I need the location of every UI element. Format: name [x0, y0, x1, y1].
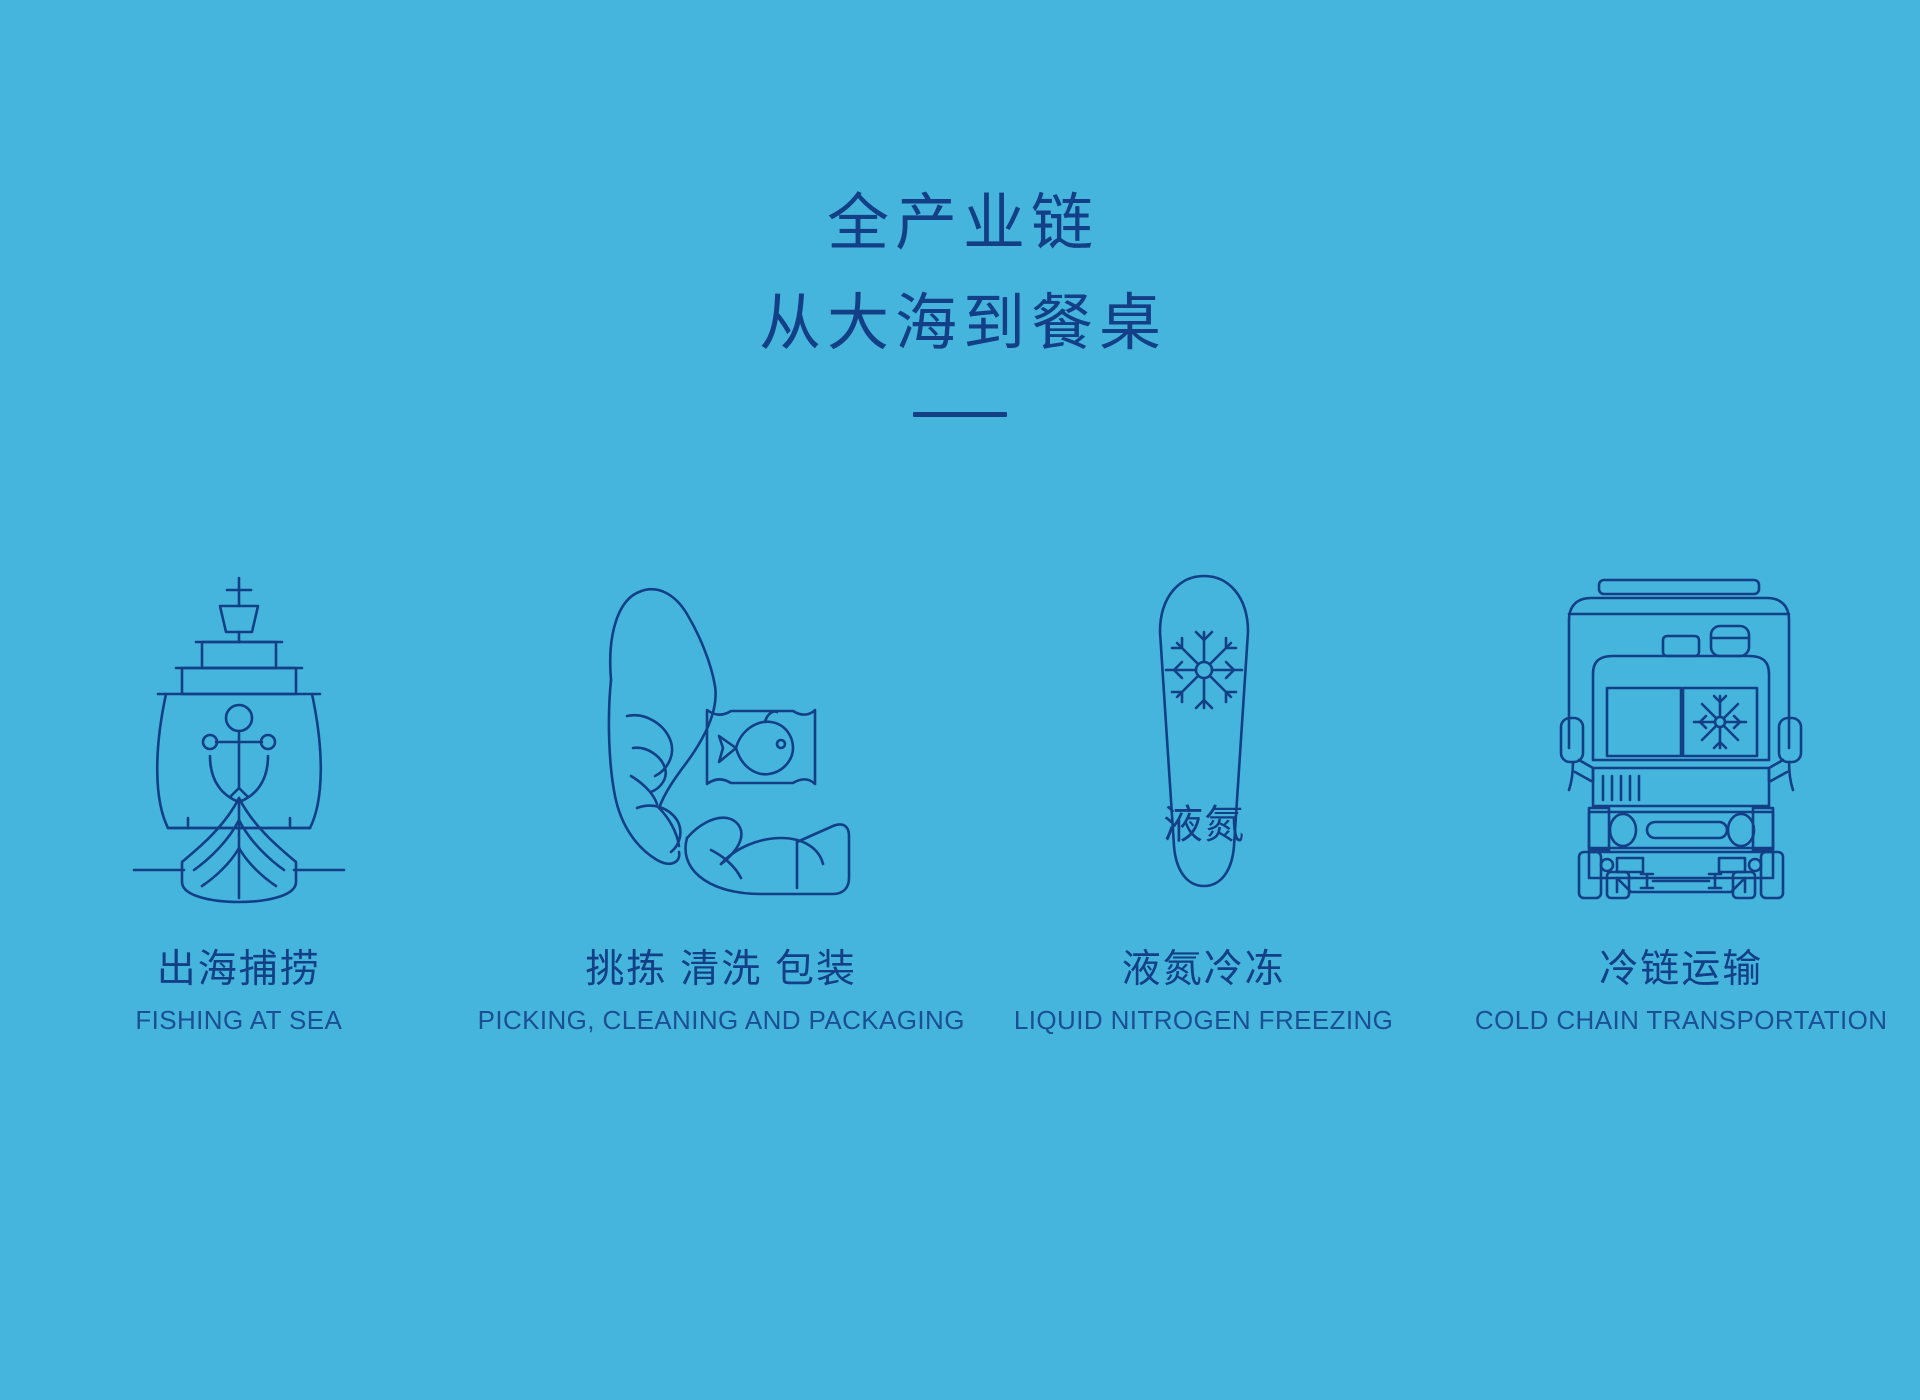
step-3-icon-box: 液氮: [1124, 530, 1284, 900]
hands-holding-packaged-fish-icon: [571, 570, 871, 900]
snowflake-icon: [1694, 696, 1746, 748]
step-3-labels: 液氮冷冻 LIQUID NITROGEN FREEZING: [1014, 946, 1393, 1036]
step-cold-chain-transportation: 冷链运输 COLD CHAIN TRANSPORTATION: [1442, 530, 1920, 1036]
step-3-label-cn: 液氮冷冻: [1014, 946, 1393, 995]
page-title-line-2: 从大海到餐桌: [0, 280, 1920, 368]
step-1-labels: 出海捕捞 FISHING AT SEA: [135, 946, 342, 1036]
step-3-label-en: LIQUID NITROGEN FREEZING: [1014, 1005, 1393, 1036]
step-4-label-cn: 冷链运输: [1475, 946, 1888, 995]
page-title-line-1: 全产业链: [0, 180, 1920, 268]
page-root: 全产业链 从大海到餐桌: [0, 0, 1920, 1400]
snowflake-icon: [1166, 632, 1242, 708]
step-1-label-cn: 出海捕捞: [135, 946, 342, 995]
step-4-icon-box: [1551, 530, 1811, 900]
packaged-fish-icon: [707, 710, 815, 784]
step-4-labels: 冷链运输 COLD CHAIN TRANSPORTATION: [1475, 946, 1888, 1036]
step-2-icon-box: [571, 530, 871, 900]
process-steps: 出海捕捞 FISHING AT SEA: [0, 530, 1920, 1036]
page-header: 全产业链 从大海到餐桌: [0, 180, 1920, 417]
tank-label-text: 液氮: [1163, 803, 1245, 847]
divider-wrap: [0, 412, 1920, 417]
step-2-label-en: PICKING, CLEANING AND PACKAGING: [478, 1005, 965, 1036]
step-1-label-en: FISHING AT SEA: [135, 1005, 342, 1036]
step-picking-cleaning-packaging: 挑拣 清洗 包装 PICKING, CLEANING AND PACKAGING: [478, 530, 965, 1036]
step-liquid-nitrogen-freezing: 液氮 液氮冷冻 LIQUID NITROGEN FREEZING: [965, 530, 1443, 1036]
refrigerated-truck-icon: [1551, 570, 1811, 900]
liquid-nitrogen-tank-icon: 液氮: [1124, 570, 1284, 900]
step-2-labels: 挑拣 清洗 包装 PICKING, CLEANING AND PACKAGING: [478, 946, 965, 1036]
fishing-boat-with-anchor-icon: [124, 570, 354, 900]
step-4-label-en: COLD CHAIN TRANSPORTATION: [1475, 1005, 1888, 1036]
step-2-label-cn: 挑拣 清洗 包装: [478, 946, 965, 995]
step-1-icon-box: [124, 530, 354, 900]
step-fishing-at-sea: 出海捕捞 FISHING AT SEA: [0, 530, 478, 1036]
title-divider: [913, 412, 1007, 417]
